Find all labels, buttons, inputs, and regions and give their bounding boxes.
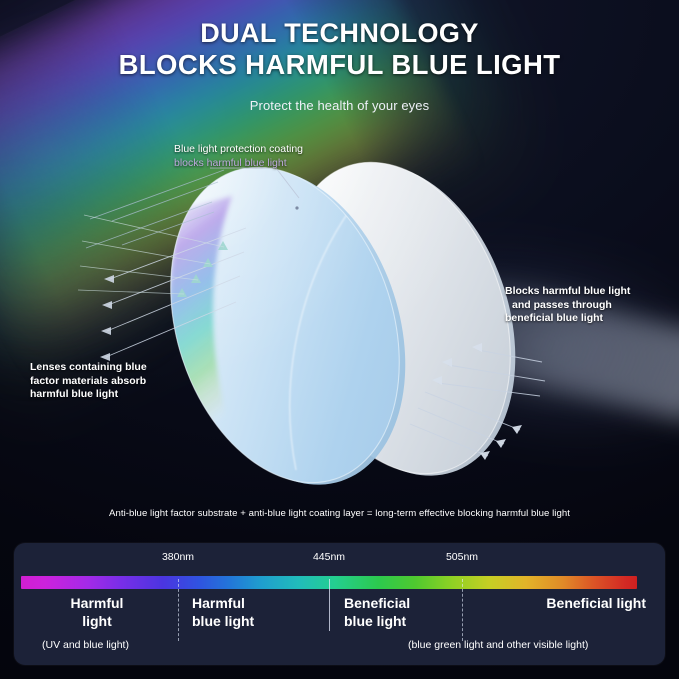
divider-505nm	[462, 579, 463, 641]
spectrum-panel: 380nm 445nm 505nm Harmful light Harmful …	[14, 543, 665, 665]
band-3-line-1: Beneficial	[344, 595, 410, 611]
annotation-right-line-3: beneficial blue light	[505, 312, 603, 324]
band-note-visible: (blue green light and other visible ligh…	[408, 639, 588, 651]
band-label-harmful-blue-light: Harmful blue light	[192, 594, 254, 630]
wavelength-tick-row: 380nm 445nm 505nm	[14, 543, 665, 569]
band-2-line-2: blue light	[192, 613, 254, 629]
band-2-line-1: Harmful	[192, 595, 245, 611]
divider-445nm	[329, 579, 330, 631]
annotation-left-line-3: harmful blue light	[30, 388, 118, 400]
band-4-line-1: Beneficial light	[546, 595, 646, 611]
annotation-blue-factor: Lenses containing blue factor materials …	[30, 361, 147, 402]
tick-445nm: 445nm	[313, 551, 345, 563]
annotation-coating-line-2: blocks harmful blue light	[174, 157, 287, 169]
annotation-coating-line-1: Blue light protection coating	[174, 143, 303, 155]
annotation-right-line-1: Blocks harmful blue light	[505, 285, 630, 297]
divider-380nm	[178, 579, 179, 641]
band-label-beneficial-blue-light: Beneficial blue light	[344, 594, 410, 630]
headline-line-1: DUAL TECHNOLOGY	[0, 18, 679, 49]
page-subtitle: Protect the health of your eyes	[0, 98, 679, 113]
tick-380nm: 380nm	[162, 551, 194, 563]
poster-root: DUAL TECHNOLOGY BLOCKS HARMFUL BLUE LIGH…	[0, 0, 679, 679]
annotation-coating: Blue light protection coating blocks har…	[174, 143, 303, 170]
band-1-line-2: light	[82, 613, 112, 629]
band-label-harmful-light: Harmful light	[32, 594, 162, 630]
band-label-beneficial-light: Beneficial light	[506, 594, 646, 612]
annotation-left-line-2: factor materials absorb	[30, 375, 146, 387]
band-note-uv: (UV and blue light)	[42, 639, 129, 651]
page-title: DUAL TECHNOLOGY BLOCKS HARMFUL BLUE LIGH…	[0, 18, 679, 80]
coating-leader-dot	[295, 206, 298, 209]
headline-line-2: BLOCKS HARMFUL BLUE LIGHT	[0, 49, 679, 80]
band-1-line-1: Harmful	[71, 595, 124, 611]
annotation-right-line-2: and passes through	[505, 299, 630, 313]
summary-caption: Anti-blue light factor substrate + anti-…	[0, 508, 679, 519]
tick-505nm: 505nm	[446, 551, 478, 563]
annotation-blocks-passes: Blocks harmful blue light and passes thr…	[505, 285, 630, 326]
reflected-arrow-heads	[100, 275, 114, 361]
annotation-left-line-1: Lenses containing blue	[30, 361, 147, 373]
band-3-line-2: blue light	[344, 613, 406, 629]
